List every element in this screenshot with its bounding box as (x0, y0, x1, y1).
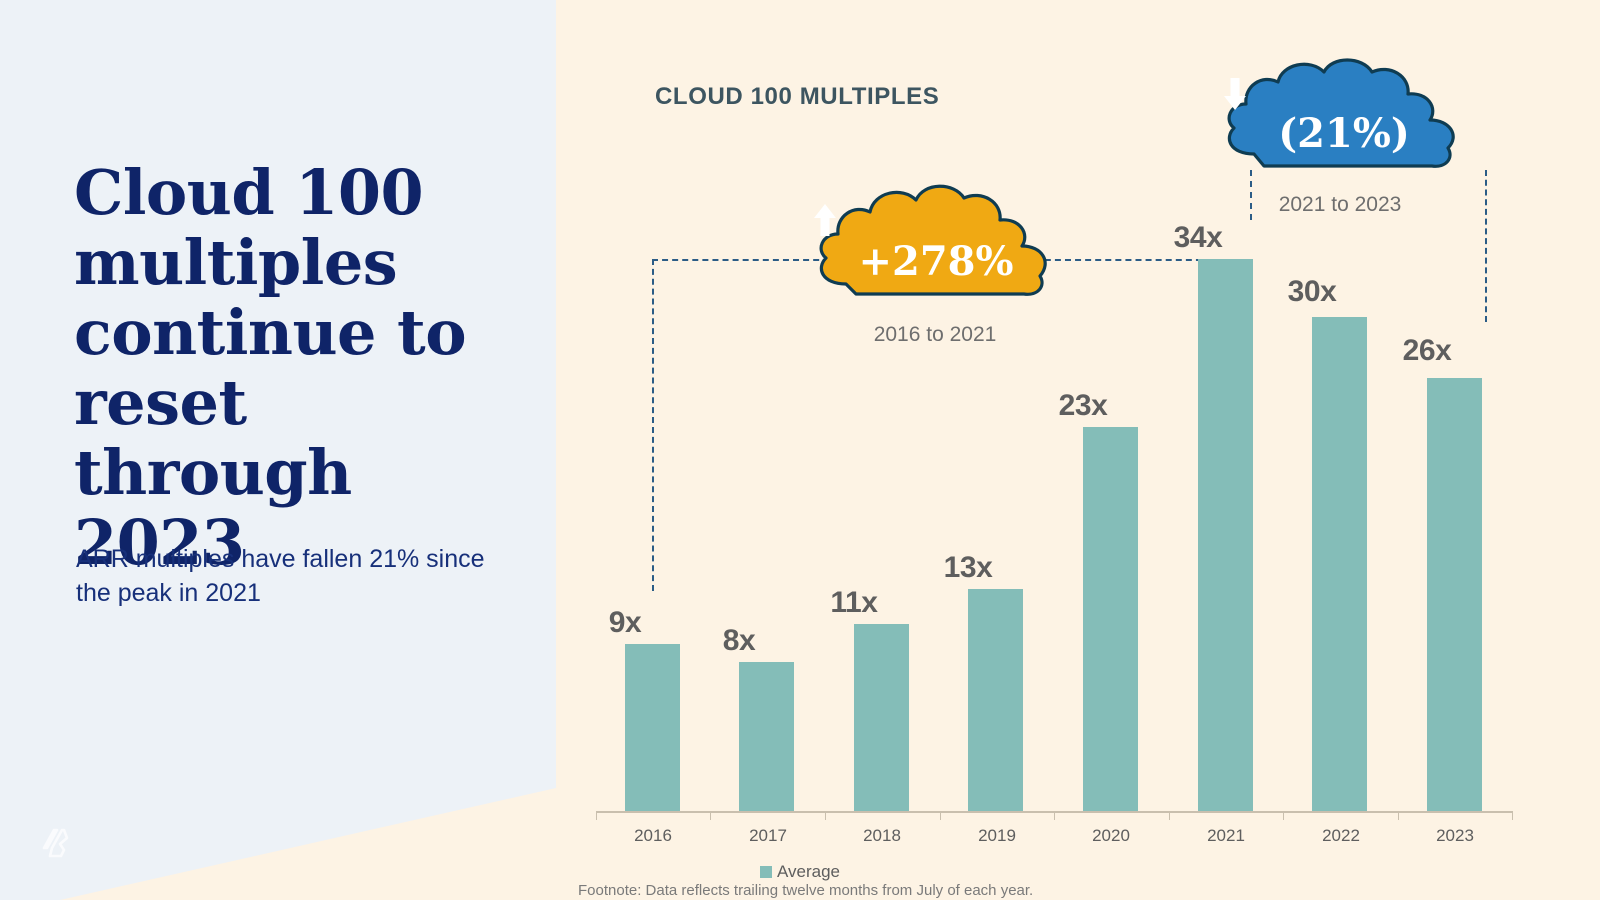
decline-callout-caption: 2021 to 2023 (1210, 193, 1470, 217)
bar-value-2016: 9x (570, 606, 680, 640)
x-axis-label-2022: 2022 (1286, 826, 1396, 846)
slide-canvas: Cloud 100 multiples continue to reset th… (0, 0, 1600, 900)
x-axis-tick (1512, 811, 1513, 820)
growth-callout-caption: 2016 to 2021 (805, 323, 1065, 347)
x-axis-tick (825, 811, 826, 820)
x-axis-label-2018: 2018 (827, 826, 937, 846)
x-axis-label-2016: 2016 (598, 826, 708, 846)
bar-2021[interactable] (1198, 259, 1253, 812)
bar-2020[interactable] (1083, 427, 1138, 812)
bar-value-2019: 13x (913, 551, 1023, 585)
x-axis-tick (940, 811, 941, 820)
bar-value-2018: 11x (799, 586, 909, 620)
bar-2022[interactable] (1312, 317, 1367, 812)
page-subtitle: ARR multiples have fallen 21% since the … (76, 542, 496, 610)
legend-label-average: Average (777, 862, 840, 881)
x-axis-tick (1054, 811, 1055, 820)
bar-value-2022: 30x (1257, 275, 1367, 309)
growth-callout-cloud[interactable]: +278% (812, 180, 1060, 308)
bar-2017[interactable] (739, 662, 794, 812)
bessemer-monogram-logo-icon (30, 818, 76, 864)
chart-footnote: Footnote: Data reflects trailing twelve … (578, 882, 1033, 899)
x-axis-label-2019: 2019 (942, 826, 1052, 846)
bar-2019[interactable] (968, 589, 1023, 812)
bar-2023[interactable] (1427, 378, 1482, 812)
x-axis-tick (1169, 811, 1170, 820)
page-title: Cloud 100 multiples continue to reset th… (74, 158, 504, 578)
bar-value-2021: 34x (1143, 221, 1253, 255)
x-axis-label-2020: 2020 (1056, 826, 1166, 846)
bar-value-2023: 26x (1372, 334, 1482, 368)
x-axis-label-2021: 2021 (1171, 826, 1281, 846)
x-axis-tick (1283, 811, 1284, 820)
x-axis-tick (1398, 811, 1399, 820)
bar-value-2020: 23x (1028, 389, 1138, 423)
legend-swatch-average (760, 866, 772, 878)
bar-value-2017: 8x (684, 624, 794, 658)
x-axis-tick (710, 811, 711, 820)
x-axis-tick (596, 811, 597, 820)
decline-callout-cloud[interactable]: (21%) (1222, 58, 1466, 176)
bar-2018[interactable] (854, 624, 909, 812)
chart-legend: Average (0, 862, 1600, 882)
x-axis-label-2017: 2017 (713, 826, 823, 846)
x-axis-label-2023: 2023 (1400, 826, 1510, 846)
bar-2016[interactable] (625, 644, 680, 812)
